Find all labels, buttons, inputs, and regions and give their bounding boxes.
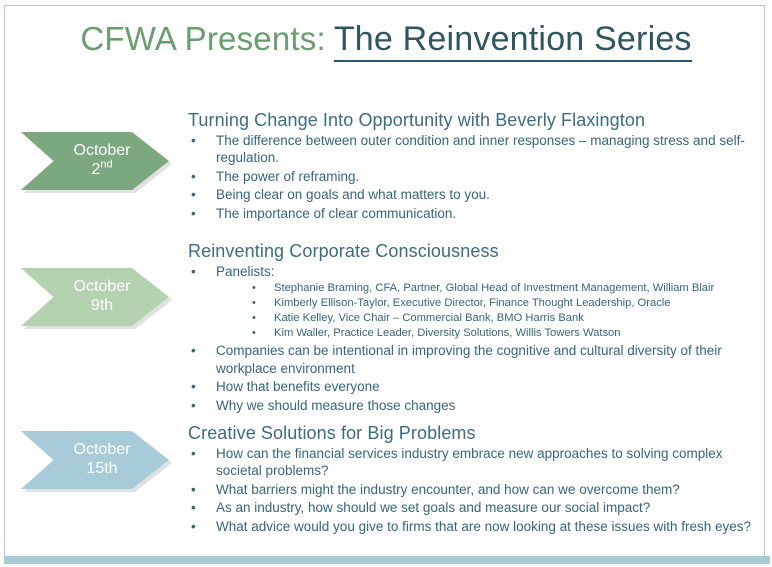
session-bullet-list-2: •Panelists:•Stephanie Braming, CFA, Part… xyxy=(188,263,748,414)
bullet-item: • How can the financial services industr… xyxy=(188,445,768,480)
panelist-item: •Katie Kelley, Vice Chair – Commercial B… xyxy=(246,311,748,326)
bullet-text: What barriers might the industry encount… xyxy=(216,482,680,497)
bullet-item: •Why we should measure those changes xyxy=(188,397,748,414)
badge-day-1: 2nd xyxy=(91,161,112,180)
bullet-item: •How that benefits everyone xyxy=(188,378,748,395)
panelist-list: •Stephanie Braming, CFA, Partner, Global… xyxy=(216,281,748,341)
bullet-text: The difference between outer condition a… xyxy=(216,133,745,165)
bullet-marker-icon: • xyxy=(191,378,196,395)
presentation-slide: CFWA Presents:The Reinvention Series Oct… xyxy=(0,0,772,567)
badge-day-suffix-2: th xyxy=(100,297,113,314)
bullet-text: Being clear on goals and what matters to… xyxy=(216,187,490,202)
bullet-item: •The power of reframing. xyxy=(188,168,748,185)
badge-day-3: 15th xyxy=(86,460,117,479)
bullet-marker-icon: • xyxy=(252,311,256,326)
bullet-marker-icon: • xyxy=(191,342,196,359)
bullet-text: What advice would you give to firms that… xyxy=(216,519,751,534)
bullet-text: The importance of clear communication. xyxy=(216,206,456,221)
bullet-item: •What barriers might the industry encoun… xyxy=(188,481,768,498)
bullet-text: How that benefits everyone xyxy=(216,379,380,394)
bullet-item: •The difference between outer condition … xyxy=(188,132,748,167)
bullet-marker-icon: • xyxy=(252,281,256,296)
slide-border-top xyxy=(4,5,765,6)
panelist-text: Stephanie Braming, CFA, Partner, Global … xyxy=(274,282,714,294)
session-heading-1: Turning Change Into Opportunity with Bev… xyxy=(188,110,748,131)
slide-title: CFWA Presents:The Reinvention Series xyxy=(0,20,772,59)
badge-day-suffix-3: th xyxy=(104,460,117,477)
session-heading-2: Reinventing Corporate Consciousness xyxy=(188,241,748,262)
badge-day-number-2: 9 xyxy=(91,297,100,314)
slide-border-left xyxy=(4,5,5,556)
session-heading-3: Creative Solutions for Big Problems xyxy=(188,423,768,444)
bullet-marker-icon: • xyxy=(191,132,196,149)
panelist-item: •Stephanie Braming, CFA, Partner, Global… xyxy=(246,281,748,296)
session-section-3: Creative Solutions for Big Problems • Ho… xyxy=(188,423,768,536)
bullet-text: How can the financial services industry … xyxy=(216,446,723,478)
badge-month-2: October xyxy=(74,278,131,297)
bullet-item: •Panelists:•Stephanie Braming, CFA, Part… xyxy=(188,263,748,341)
bullet-marker-icon: • xyxy=(252,296,256,311)
bullet-item: •What advice would you give to firms tha… xyxy=(188,518,768,535)
bullet-text: Panelists: xyxy=(216,264,275,279)
panelist-text: Kim Waller, Practice Leader, Diversity S… xyxy=(274,327,621,339)
panelist-item: •Kim Waller, Practice Leader, Diversity … xyxy=(246,326,748,341)
panelist-item: •Kimberly Ellison-Taylor, Executive Dire… xyxy=(246,296,748,311)
badge-day-number-3: 15 xyxy=(86,460,104,477)
session-section-1: Turning Change Into Opportunity with Bev… xyxy=(188,110,748,223)
badge-day-suffix-1: nd xyxy=(100,159,112,171)
title-presenter: CFWA Presents: xyxy=(80,20,325,57)
badge-month-3: October xyxy=(74,441,131,460)
badge-day-2: 9th xyxy=(91,297,113,316)
bullet-marker-icon: • xyxy=(191,445,196,462)
bullet-marker-icon: • xyxy=(191,518,196,535)
bullet-marker-icon: • xyxy=(191,186,196,203)
bullet-item: •Being clear on goals and what matters t… xyxy=(188,186,748,203)
bullet-marker-icon: • xyxy=(191,205,196,222)
slide-border-bottom-bar xyxy=(4,556,770,564)
bullet-text: Why we should measure those changes xyxy=(216,398,455,413)
bullet-marker-icon: • xyxy=(252,326,256,341)
panelist-text: Kimberly Ellison-Taylor, Executive Direc… xyxy=(274,297,671,309)
bullet-item: •As an industry, how should we set goals… xyxy=(188,499,768,516)
session-bullet-list-1: •The difference between outer condition … xyxy=(188,132,748,222)
bullet-marker-icon: • xyxy=(191,168,196,185)
session-section-2: Reinventing Corporate Consciousness •Pan… xyxy=(188,241,748,415)
bullet-marker-icon: • xyxy=(191,481,196,498)
bullet-marker-icon: • xyxy=(191,397,196,414)
bullet-marker-icon: • xyxy=(191,263,196,280)
bullet-text: As an industry, how should we set goals … xyxy=(216,500,650,515)
bullet-text: Companies can be intentional in improvin… xyxy=(216,343,722,375)
bullet-item: •Companies can be intentional in improvi… xyxy=(188,342,748,377)
bullet-marker-icon: • xyxy=(191,499,196,516)
title-series: The Reinvention Series xyxy=(334,20,692,62)
panelist-text: Katie Kelley, Vice Chair – Commercial Ba… xyxy=(274,312,584,324)
bullet-item: •The importance of clear communication. xyxy=(188,205,748,222)
session-bullet-list-3: • How can the financial services industr… xyxy=(188,445,768,535)
bullet-text: The power of reframing. xyxy=(216,169,359,184)
